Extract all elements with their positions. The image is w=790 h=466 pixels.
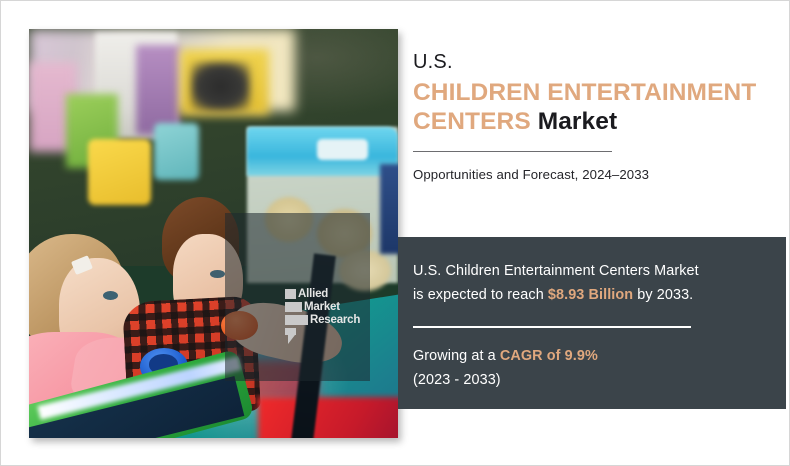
cagr-period: (2023 - 2033) [413,372,501,388]
photo-purple-cabinet [136,45,180,135]
market-report-banner: Allied Market Research U.S. CHILDREN ENT… [0,0,790,466]
allied-market-research-logo: Allied Market Research [285,289,383,337]
logo-word-market: Market [304,301,340,313]
logo-bar-1 [285,289,296,299]
title-market-suffix: Market [531,108,618,135]
title-accent-line-1: CHILDREN ENTERTAINMENT [413,79,756,106]
expected-reach-text: is expected to reach [413,287,548,303]
page-title: U.S. CHILDREN ENTERTAINMENT CENTERS Mark… [413,48,773,136]
logo-word-allied: Allied [298,288,328,300]
market-value-statement: U.S. Children Entertainment Centers Mark… [413,259,768,307]
title-accent-line-2: CENTERS [413,108,531,135]
growing-at-text: Growing at a [413,348,500,364]
logo-bubble-base [285,328,296,335]
logo-word-research: Research [310,314,360,326]
photo-blue-post [380,164,398,254]
photo-teal-cube [154,123,198,180]
photo-red-table-right [258,397,398,438]
logo-bar-3 [285,315,308,325]
title-line-market: CHILDREN ENTERTAINMENT CENTERS Market [413,78,773,136]
by-year-text: by 2033. [633,287,693,303]
cagr-statement: Growing at a CAGR of 9.9% (2023 - 2033) [413,344,768,392]
market-value-figure: $8.93 Billion [548,287,633,303]
subtitle: Opportunities and Forecast, 2024–2033 [413,167,649,182]
logo-speech-bubble-tail [288,335,295,344]
photo-girl-eye [103,291,118,300]
photo-toy-bin-handle [317,139,369,159]
title-divider [413,151,612,152]
market-name-text: U.S. Children Entertainment Centers Mark… [413,263,699,279]
title-line-country: U.S. [413,48,773,76]
cagr-figure: CAGR of 9.9% [500,348,598,364]
photo-yellow-cube [88,139,151,204]
panel-divider [413,326,691,328]
photo-dark-toy [191,62,250,111]
logo-bar-2 [285,302,302,312]
statistics-panel: U.S. Children Entertainment Centers Mark… [398,237,786,409]
